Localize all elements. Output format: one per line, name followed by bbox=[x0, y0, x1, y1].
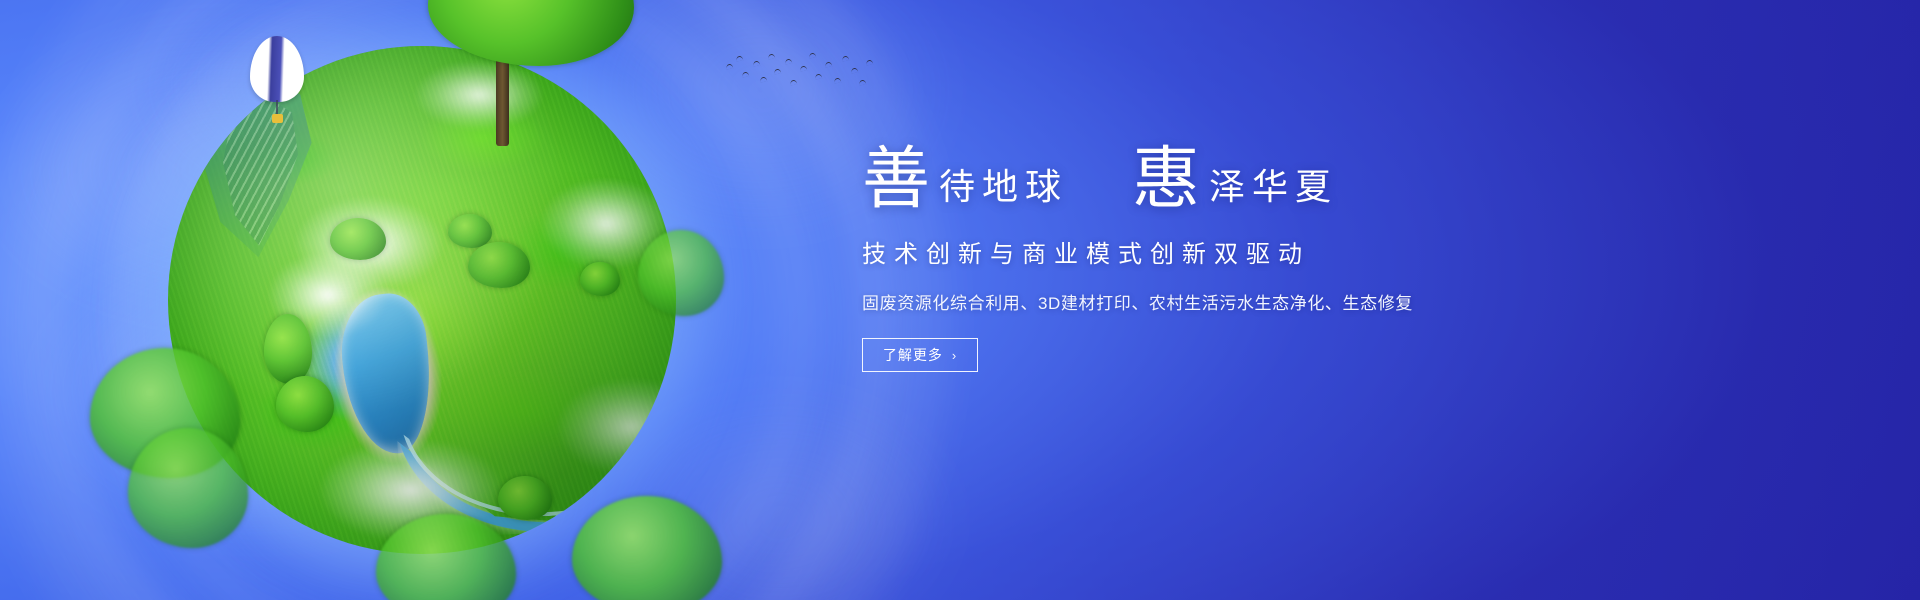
tree-icon bbox=[468, 242, 530, 288]
lake-shape bbox=[336, 290, 438, 458]
cloud-shape bbox=[268, 252, 388, 338]
balloon-envelope bbox=[250, 36, 304, 102]
lake-shore bbox=[323, 277, 454, 474]
headline-text-2: 泽华夏 bbox=[1209, 170, 1338, 214]
hero-banner: 善 待地球 惠 泽华夏 技术创新与商业模式创新双驱动 固废资源化综合利用、3D建… bbox=[0, 0, 1920, 600]
banner-content: 善 待地球 惠 泽华夏 技术创新与商业模式创新双驱动 固废资源化综合利用、3D建… bbox=[862, 128, 1682, 372]
tree-icon bbox=[128, 428, 248, 548]
headline-text-1: 待地球 bbox=[939, 170, 1068, 214]
globe-image bbox=[168, 0, 676, 600]
headline-char-1: 善 bbox=[862, 146, 931, 214]
balloon-basket bbox=[272, 114, 283, 123]
tree-icon bbox=[276, 376, 334, 432]
cloud-shape bbox=[294, 196, 444, 292]
tree-canopy bbox=[428, 0, 634, 66]
tree-icon bbox=[400, 0, 630, 138]
tree-icon bbox=[448, 214, 492, 248]
headline-char-2: 惠 bbox=[1132, 146, 1201, 214]
hot-air-balloon-icon bbox=[250, 36, 304, 128]
banner-description: 固废资源化综合利用、3D建材打印、农村生活污水生态净化、生态修复 bbox=[862, 289, 1682, 314]
tree-icon bbox=[580, 262, 620, 296]
cloud-shape bbox=[556, 378, 676, 476]
page-title: 善 待地球 惠 泽华夏 bbox=[862, 128, 1682, 214]
birds-flock-icon bbox=[724, 50, 874, 96]
tree-icon bbox=[264, 314, 312, 384]
chevron-right-icon: › bbox=[952, 349, 957, 362]
learn-more-button[interactable]: 了解更多 › bbox=[862, 338, 978, 372]
river-highlight bbox=[395, 293, 676, 524]
tree-icon bbox=[572, 496, 722, 600]
tree-icon bbox=[638, 230, 724, 316]
banner-subtitle: 技术创新与商业模式创新双驱动 bbox=[862, 234, 1682, 269]
learn-more-label: 了解更多 bbox=[883, 345, 943, 365]
tree-icon bbox=[330, 218, 386, 260]
tree-icon bbox=[376, 514, 516, 600]
